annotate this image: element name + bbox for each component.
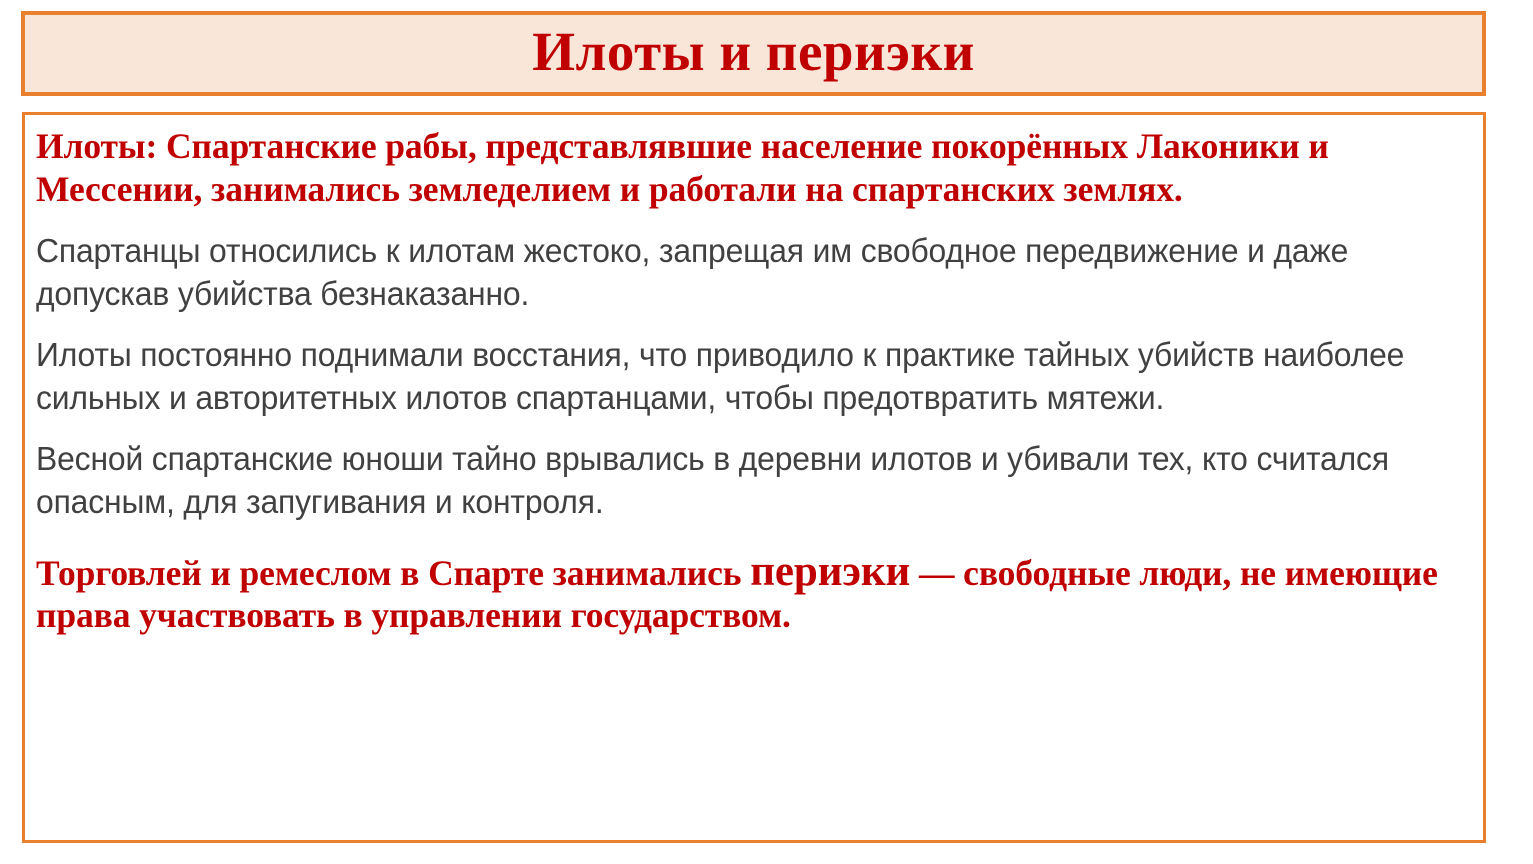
paragraph-spartan-cruelty: Спартанцы относились к илотам жестоко, з… <box>36 230 1419 316</box>
paragraph-perioeci: Торговлей и ремеслом в Спарте занимались… <box>36 550 1469 637</box>
paragraph-helots-definition: Илоты: Спартанские рабы, представлявшие … <box>36 125 1469 210</box>
paragraph-helot-revolts: Илоты постоянно поднимали восстания, что… <box>36 334 1419 420</box>
slide-title-box: Илоты и периэки <box>21 11 1486 96</box>
paragraph-krypteia: Весной спартанские юноши тайно врывались… <box>36 438 1419 524</box>
slide-content-box: Илоты: Спартанские рабы, представлявшие … <box>22 112 1486 843</box>
page-title: Илоты и периэки <box>532 23 975 85</box>
slide-root: Илоты и периэки Илоты: Спартанские рабы,… <box>0 0 1533 864</box>
perioeci-text-before: Торговлей и ремеслом в Спарте занимались <box>36 553 750 593</box>
perioeci-emphasis-word: периэки <box>750 548 910 595</box>
